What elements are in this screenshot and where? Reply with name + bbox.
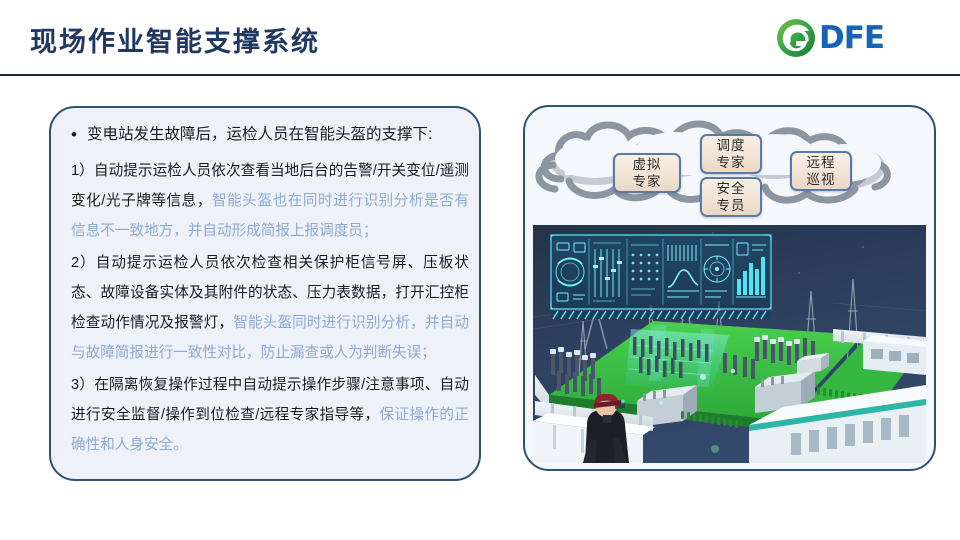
- expert-cloud-group: 虚拟 专家 调度 专家 安全 专员 远程 巡视: [525, 107, 934, 222]
- item-index: 3）: [71, 377, 94, 393]
- slide-root: 现场作业智能支撑系统 DFE: [0, 0, 960, 540]
- expert-box-virtual[interactable]: 虚拟 专家: [613, 153, 681, 193]
- bullet-heading-text: 变电站发生故障后，运检人员在智能头盔的支撑下:: [87, 126, 432, 143]
- expert-box-dispatch[interactable]: 调度 专家: [700, 134, 762, 174]
- panel-bullet-heading: •变电站发生故障后，运检人员在智能头盔的支撑下:: [71, 122, 471, 148]
- list-item: 3）在隔离恢复操作过程中自动提示操作步骤/注意事项、自动进行安全监督/操作到位检…: [71, 370, 469, 460]
- expert-label-line2: 专家: [717, 154, 746, 171]
- expert-label-line1: 虚拟: [633, 156, 662, 173]
- control-building-right: [863, 335, 926, 375]
- expert-label-line2: 专员: [717, 197, 746, 214]
- brand-logo: DFE: [776, 18, 936, 58]
- expert-box-safety[interactable]: 安全 专员: [700, 177, 762, 217]
- expert-box-remote[interactable]: 远程 巡视: [790, 151, 852, 191]
- item-index: 1）: [71, 163, 94, 179]
- list-item: 2）自动提示运检人员依次检查相关保护柜信号屏、压板状态、故障设备实体及其附件的状…: [71, 248, 469, 368]
- list-item: 1）自动提示运检人员依次查看当地后台的告警/开关变位/遥测变化/光子牌等信息，智…: [71, 156, 469, 246]
- logo-wordmark: DFE: [819, 20, 884, 56]
- page-title: 现场作业智能支撑系统: [30, 20, 320, 59]
- illustration-panel: 虚拟 专家 调度 专家 安全 专员 远程 巡视: [523, 105, 936, 471]
- expert-label-line1: 调度: [717, 137, 746, 154]
- bullet-marker: •: [71, 122, 87, 148]
- description-panel: •变电站发生故障后，运检人员在智能头盔的支撑下: 1）自动提示运检人员依次查看当…: [49, 106, 481, 481]
- item-index: 2）: [71, 255, 96, 271]
- expert-label-line1: 远程: [807, 154, 836, 171]
- slide-header: 现场作业智能支撑系统 DFE: [0, 0, 960, 75]
- header-divider: [0, 74, 960, 76]
- expert-label-line1: 安全: [717, 180, 746, 197]
- expert-label-line2: 巡视: [807, 171, 836, 188]
- substation-3d-illustration: [533, 225, 926, 463]
- expert-label-line2: 专家: [633, 173, 662, 190]
- green-e-swirl-logo: [776, 18, 816, 58]
